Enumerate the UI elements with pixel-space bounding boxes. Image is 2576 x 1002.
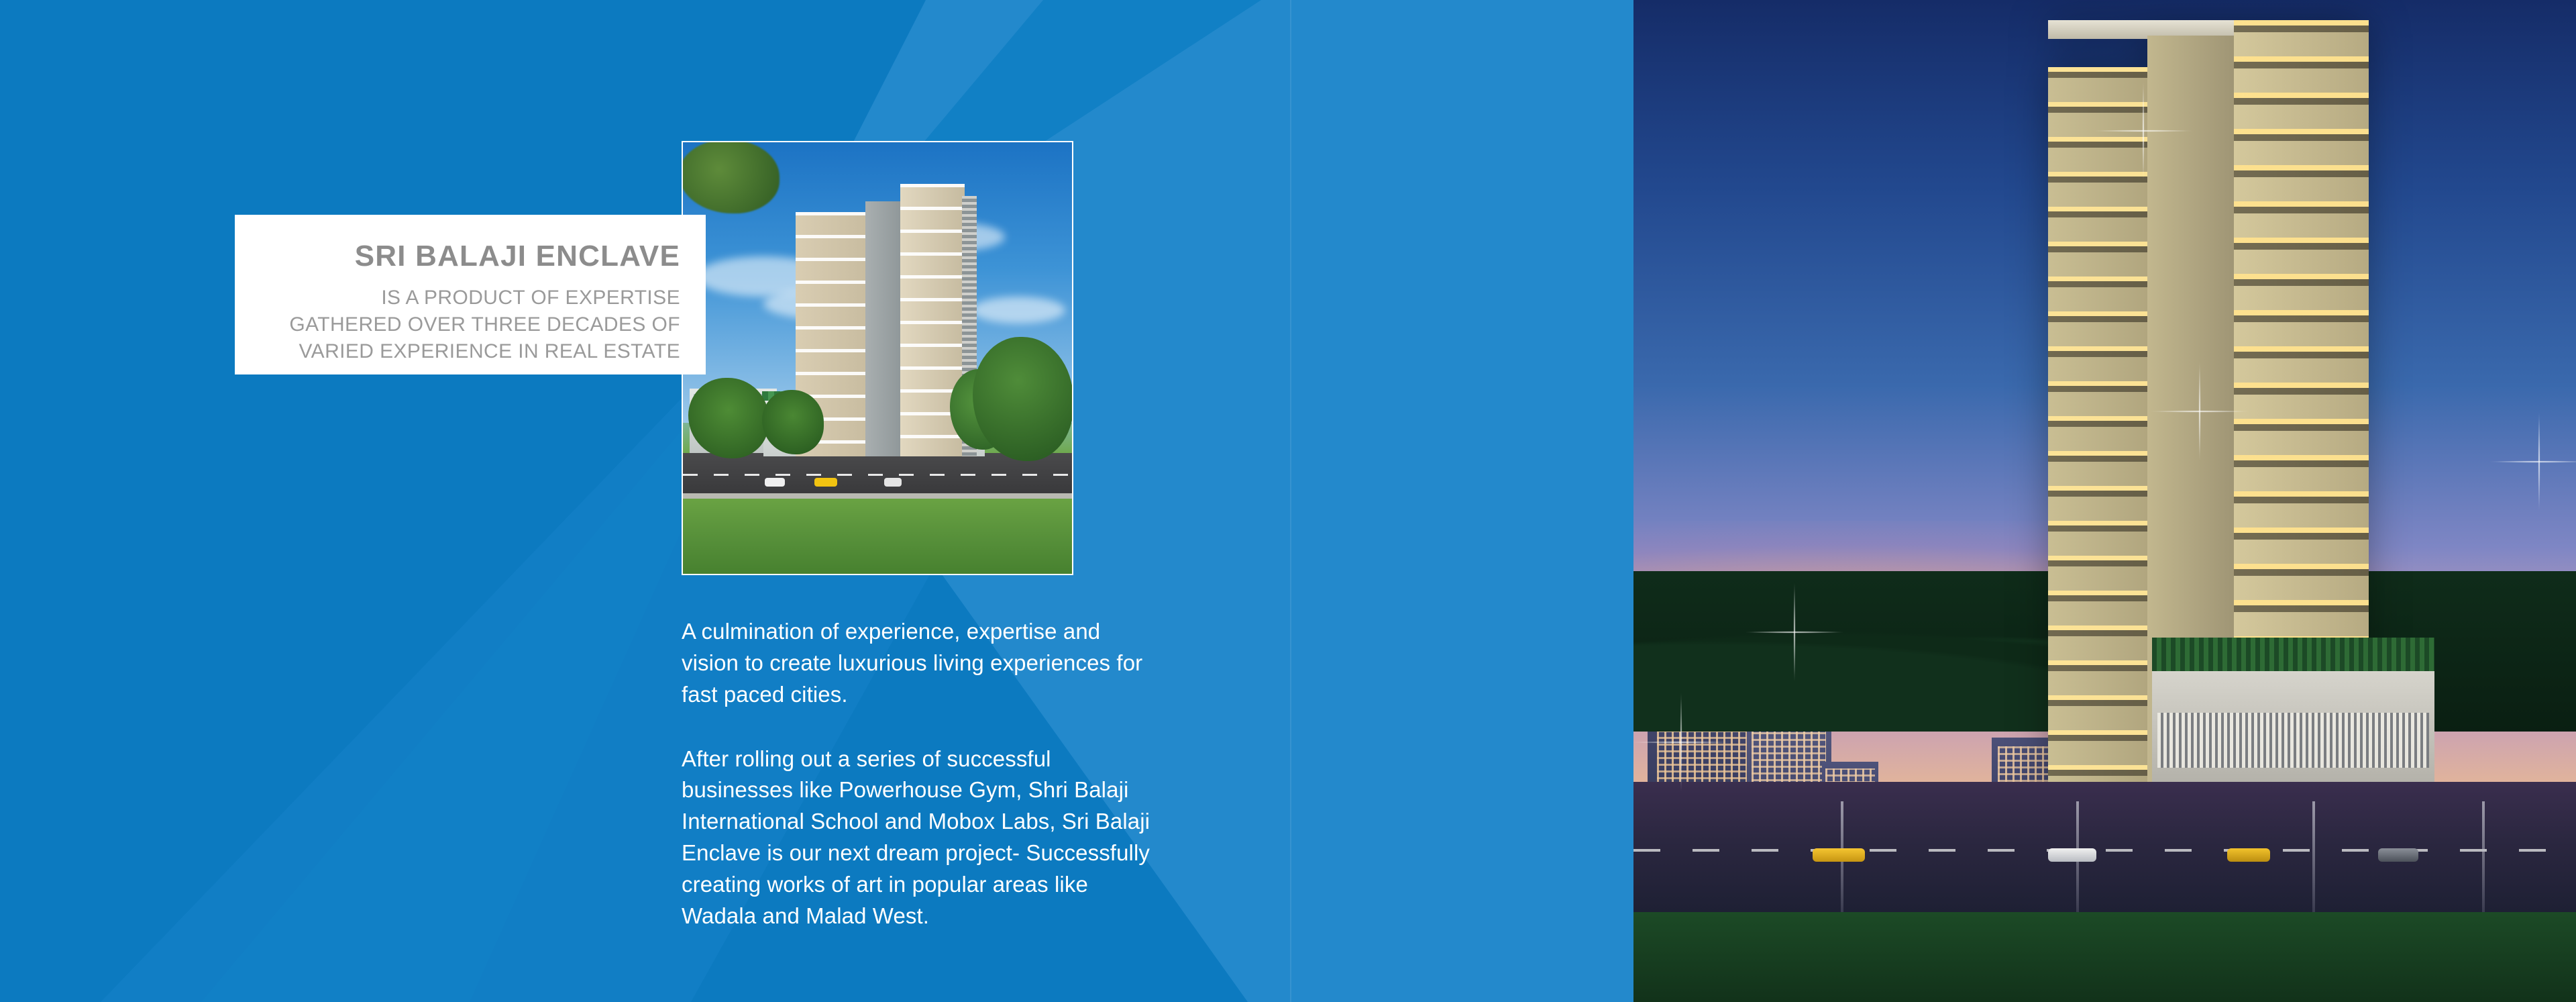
project-title: SRI BALAJI ENCLAVE [262, 235, 680, 272]
project-tagline: IS A PRODUCT OF EXPERTISE GATHERED OVER … [262, 285, 680, 364]
car-shape [814, 478, 837, 487]
lawn-area [683, 493, 1072, 574]
tagline-line: VARIED EXPERIENCE IN REAL ESTATE [262, 338, 680, 365]
tower-wing-left [2048, 67, 2151, 802]
light-flare [2143, 130, 2144, 132]
car-shape [2048, 848, 2096, 862]
tree-foliage [682, 141, 780, 213]
car-shape [2227, 848, 2270, 862]
tower-core [865, 201, 903, 456]
light-flare [1794, 632, 1795, 633]
intro-card: SRI BALAJI ENCLAVE IS A PRODUCT OF EXPER… [235, 215, 706, 374]
road-strip [1633, 782, 2576, 912]
paragraph-one: A culmination of experience, expertise a… [682, 616, 1151, 711]
lawn-area [1633, 912, 2576, 1002]
slide-canvas: SRI BALAJI ENCLAVE IS A PRODUCT OF EXPER… [0, 0, 2576, 1002]
light-flare [2538, 461, 2540, 462]
light-flare [2199, 411, 2200, 412]
body-copy: A culmination of experience, expertise a… [682, 616, 1151, 932]
night-render-image [1633, 0, 2576, 1002]
tagline-line: IS A PRODUCT OF EXPERTISE [262, 285, 680, 311]
tagline-line: GATHERED OVER THREE DECADES OF [262, 311, 680, 338]
podium-greenery [2152, 638, 2435, 672]
street-light [2312, 801, 2315, 911]
car-shape [1813, 848, 1865, 862]
light-flare [1680, 742, 1682, 743]
car-shape [2378, 848, 2418, 862]
curb-strip [683, 493, 1072, 499]
car-shape [884, 478, 902, 487]
cloud-shape [971, 297, 1065, 323]
paragraph-two: After rolling out a series of successful… [682, 744, 1151, 932]
car-shape [765, 478, 785, 487]
panel-seam-divider [1290, 0, 1291, 1002]
street-light [2482, 801, 2485, 911]
daytime-render-image [682, 141, 1073, 575]
